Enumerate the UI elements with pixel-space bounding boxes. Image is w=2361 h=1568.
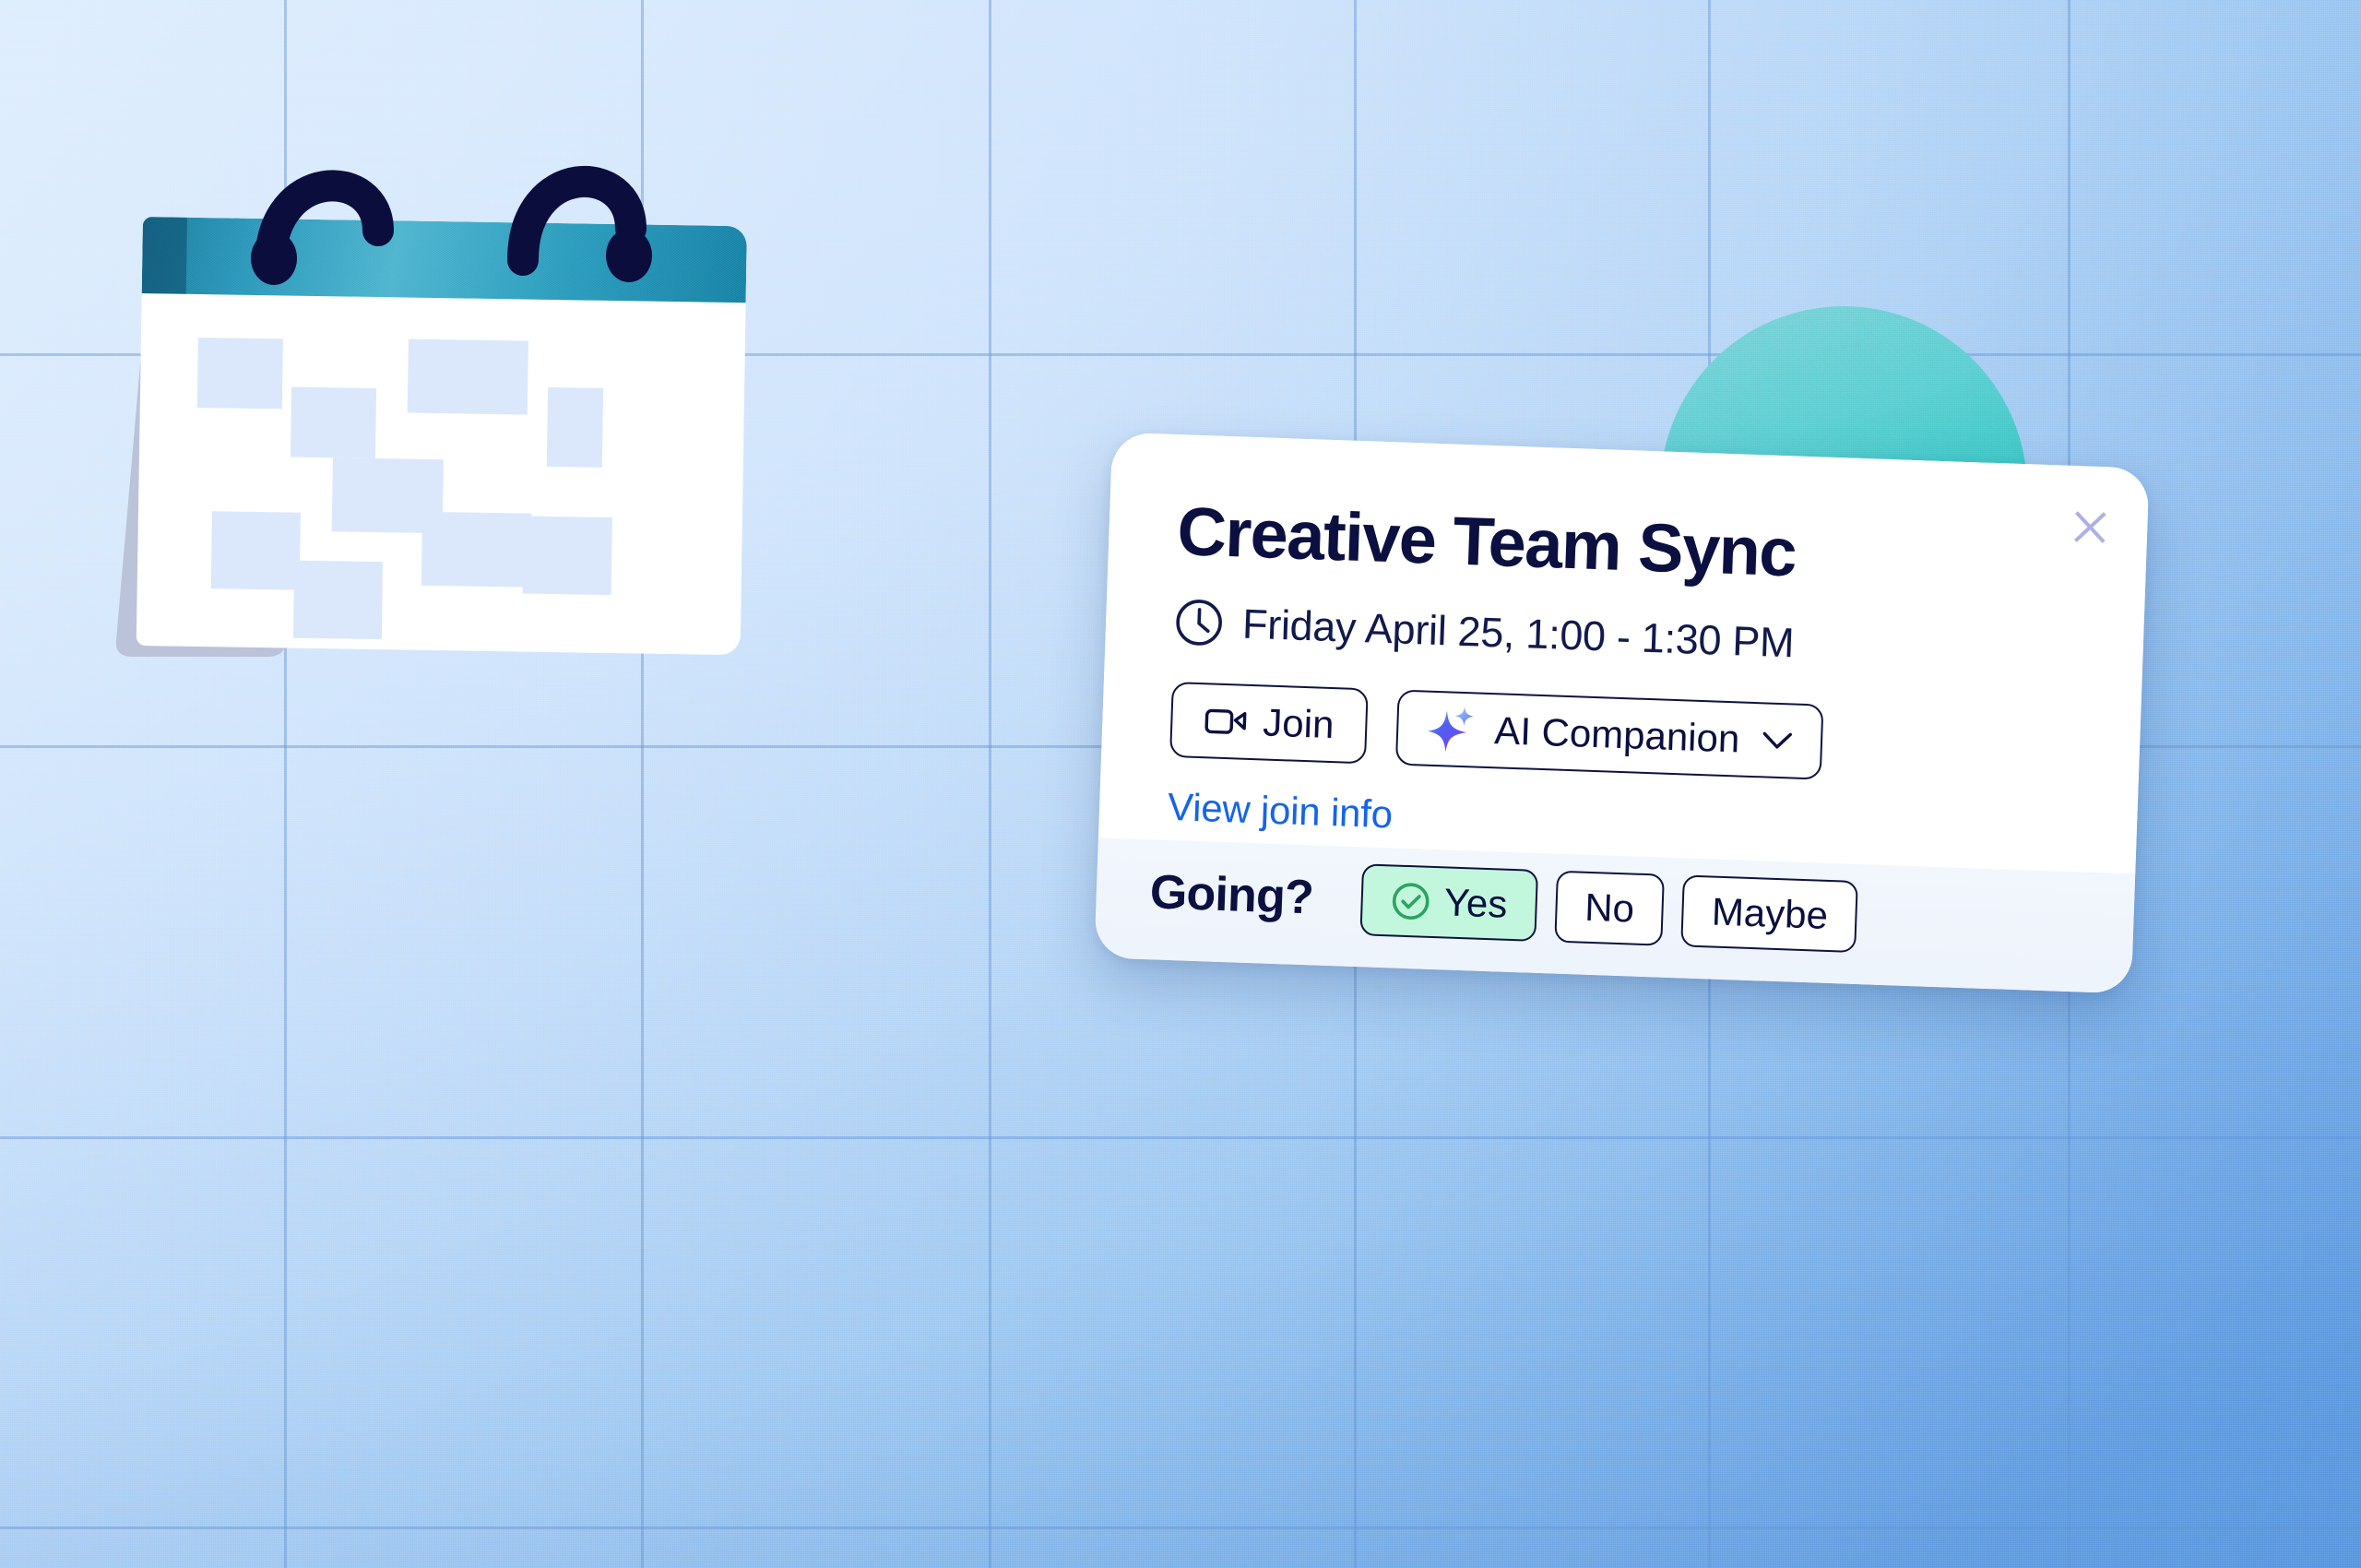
- video-camera-icon: [1204, 702, 1249, 741]
- calendar-date-cell: [211, 511, 301, 589]
- calendar-header-band: [142, 217, 747, 303]
- view-join-info-link[interactable]: View join info: [1167, 785, 1393, 837]
- calendar-date-cell: [421, 512, 531, 588]
- join-button-label: Join: [1263, 700, 1335, 747]
- calendar-date-cell: [197, 338, 283, 409]
- calendar-date-cell: [408, 339, 528, 415]
- close-icon: [2071, 508, 2109, 546]
- calendar-date-cell: [293, 561, 383, 639]
- rsvp-yes-button[interactable]: Yes: [1360, 863, 1538, 942]
- close-button[interactable]: [2068, 505, 2114, 551]
- join-button[interactable]: Join: [1169, 682, 1369, 764]
- rsvp-maybe-button[interactable]: Maybe: [1681, 874, 1859, 953]
- rsvp-no-label: No: [1584, 885, 1634, 932]
- rsvp-no-button[interactable]: No: [1554, 871, 1665, 946]
- rsvp-yes-label: Yes: [1443, 880, 1508, 926]
- calendar-date-cell: [523, 517, 612, 595]
- rsvp-question-label: Going?: [1149, 864, 1314, 925]
- ai-companion-button-label: AI Companion: [1493, 708, 1740, 761]
- sparkle-icon: [1425, 703, 1478, 756]
- event-details-card: Creative Team Sync Friday April 25, 1:00…: [1094, 433, 2149, 994]
- calendar-header-shadow: [142, 217, 187, 294]
- calendar-body: [136, 217, 747, 655]
- calendar-date-cell: [291, 387, 376, 458]
- circle-check-icon: [1390, 880, 1432, 922]
- rsvp-maybe-label: Maybe: [1711, 890, 1829, 938]
- calendar-date-cell: [547, 387, 603, 468]
- ai-companion-button[interactable]: AI Companion: [1395, 690, 1824, 780]
- clock-icon: [1173, 597, 1225, 648]
- chevron-down-icon: [1762, 730, 1794, 751]
